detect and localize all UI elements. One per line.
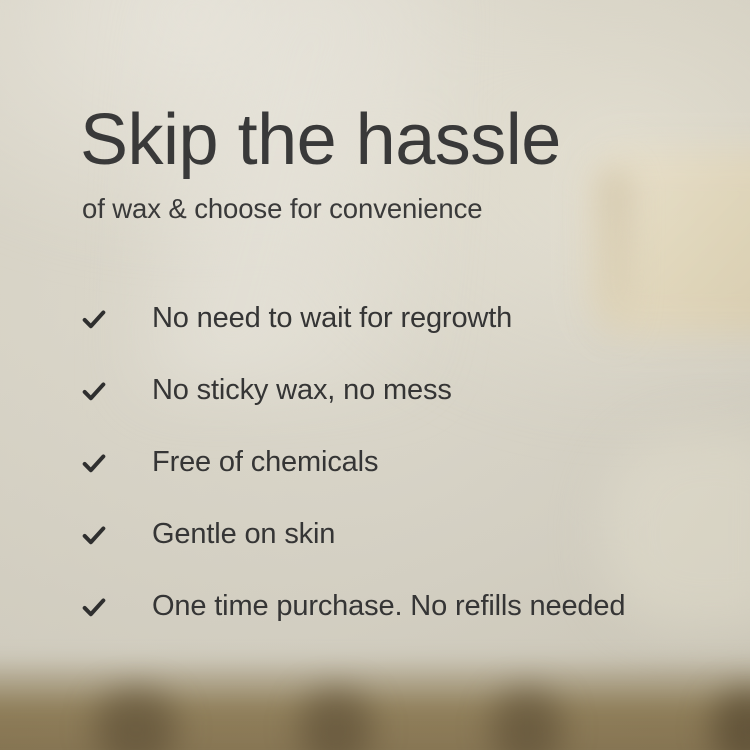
subheadline: of wax & choose for convenience — [82, 192, 482, 225]
benefit-label: No need to wait for regrowth — [152, 303, 512, 335]
checkmark-icon — [80, 449, 152, 477]
benefit-label: No sticky wax, no mess — [152, 375, 452, 407]
checkmark-icon — [80, 593, 152, 621]
benefit-item: No need to wait for regrowth — [80, 283, 700, 355]
promo-content: Skip the hassle of wax & choose for conv… — [0, 0, 750, 750]
benefit-item: No sticky wax, no mess — [80, 355, 700, 427]
benefit-label: One time purchase. No refills needed — [152, 591, 625, 623]
benefit-list: No need to wait for regrowth No sticky w… — [80, 283, 700, 643]
checkmark-icon — [80, 305, 152, 333]
checkmark-icon — [80, 377, 152, 405]
benefit-item: Gentle on skin — [80, 499, 700, 571]
checkmark-icon — [80, 521, 152, 549]
benefit-item: Free of chemicals — [80, 427, 700, 499]
benefit-item: One time purchase. No refills needed — [80, 571, 700, 643]
headline: Skip the hassle — [80, 104, 561, 176]
promo-banner: Skip the hassle of wax & choose for conv… — [0, 0, 750, 750]
benefit-label: Gentle on skin — [152, 519, 335, 551]
benefit-label: Free of chemicals — [152, 447, 378, 479]
